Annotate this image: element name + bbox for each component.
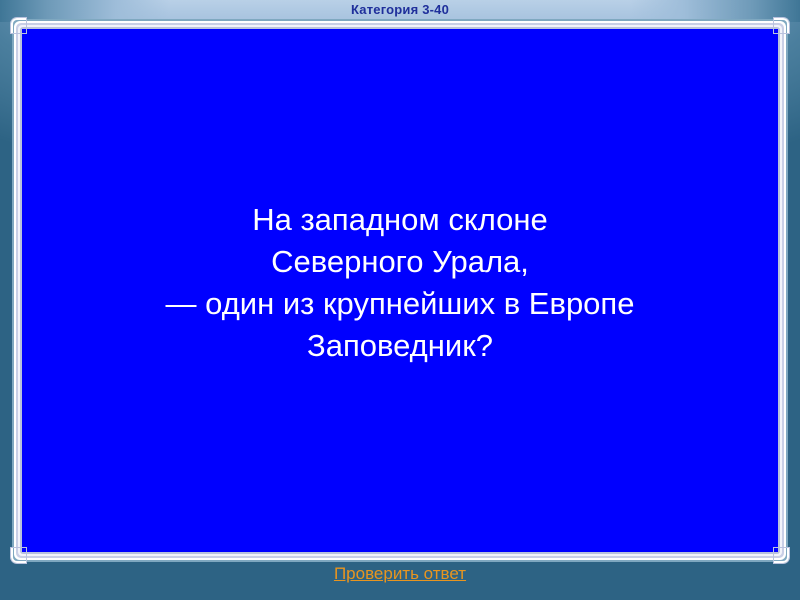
slide-canvas: Категория 3-40 На западном склоне Северн… [0, 0, 800, 600]
question-text: На западном склоне Северного Урала, — од… [22, 199, 778, 367]
corner-notch-top-right-icon [774, 18, 789, 33]
slide-frame: На западном склоне Северного Урала, — од… [12, 19, 788, 562]
corner-notch-bottom-right-icon [774, 548, 789, 563]
question-panel: На западном склоне Северного Урала, — од… [22, 29, 778, 552]
check-answer-link[interactable]: Проверить ответ [0, 563, 800, 584]
corner-notch-top-left-icon [11, 18, 26, 33]
corner-notch-bottom-left-icon [11, 548, 26, 563]
category-title: Категория 3-40 [0, 2, 800, 17]
